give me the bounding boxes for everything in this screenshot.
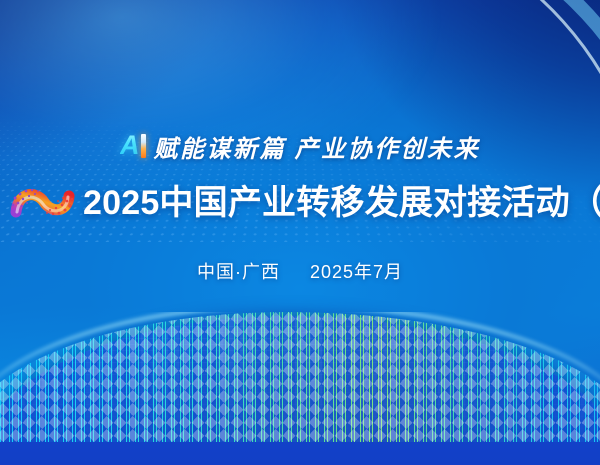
page-title: 2025中国产业转移发展对接活动（广西） (83, 186, 600, 220)
subtitle-date: 2025年7月 (310, 262, 403, 282)
infinity-ribbon-logo (8, 178, 76, 228)
tagline: A 赋能谋新篇 产业协作创未来 (0, 129, 600, 164)
ai-letter-a: A (120, 130, 139, 161)
event-poster: A 赋能谋新篇 产业协作创未来 (0, 0, 600, 465)
ai-letter-i-bar (141, 134, 146, 158)
subtitle: 中国·广西 2025年7月 (0, 258, 600, 284)
tagline-text: 赋能谋新篇 产业协作创未来 (154, 129, 481, 164)
title-row: 2025中国产业转移发展对接活动（广西） (0, 178, 600, 228)
ai-logo-mark: A (120, 130, 146, 161)
subtitle-location: 中国·广西 (197, 262, 280, 282)
ribbon-sweeps (108, 0, 600, 465)
